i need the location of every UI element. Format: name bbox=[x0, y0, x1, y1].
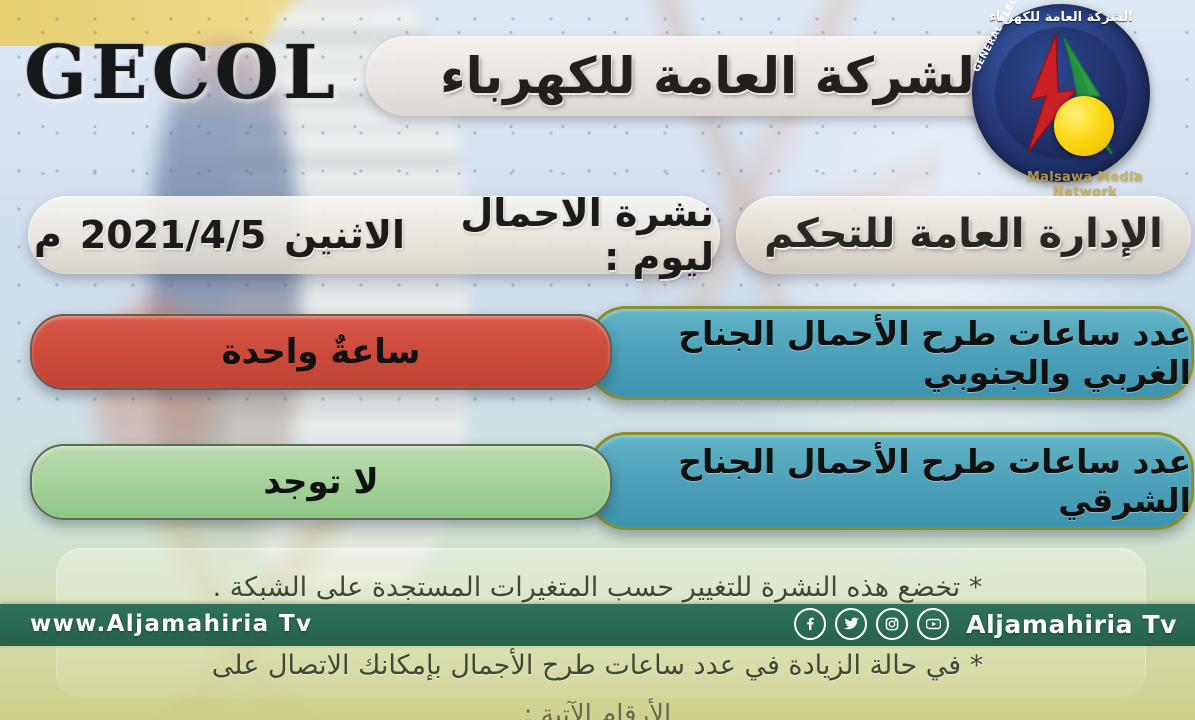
note-line-3: الأرقام الآتية : bbox=[0, 700, 1195, 720]
header-title: الشركة العامة للكهرباء bbox=[366, 34, 1066, 118]
note-line-1: * تخضع هذه النشرة للتغيير حسب المتغيرات … bbox=[0, 572, 1195, 603]
facebook-icon[interactable] bbox=[794, 608, 826, 640]
gecol-wordmark: GECOL bbox=[24, 30, 339, 116]
bulletin-label: نشرة الاحمال ليوم : bbox=[423, 191, 714, 279]
bulletin-weekday: الاثنين bbox=[284, 213, 405, 257]
youtube-icon[interactable] bbox=[917, 608, 949, 640]
row-2-label: عدد ساعات طرح الأحمال الجناح الشرقي bbox=[588, 432, 1194, 530]
bulletin-era-suffix: م bbox=[34, 213, 62, 257]
row-1-value: ساعةٌ واحدة bbox=[30, 314, 612, 390]
broadcast-graphic: GECOL الشركة العامة للكهرباء الشركة العا… bbox=[0, 0, 1195, 720]
logo-yellow-sphere bbox=[1054, 96, 1114, 156]
footer-social-group: Aljamahiria Tv bbox=[794, 608, 1177, 640]
footer-website: www.Aljamahiria Tv bbox=[30, 611, 312, 637]
department-title: الإدارة العامة للتحكم bbox=[736, 194, 1191, 274]
note-line-2: * في حالة الزيادة في عدد ساعات طرح الأجم… bbox=[0, 650, 1195, 681]
footer-channel-name: Aljamahiria Tv bbox=[966, 610, 1177, 639]
gecol-logo: الشركة العامة للكهرباء GENERAL ELECTRICI… bbox=[972, 4, 1150, 182]
row-1-label: عدد ساعات طرح الأحمال الجناح الغربي والج… bbox=[588, 306, 1194, 400]
logo-lightning-icon bbox=[972, 4, 1150, 182]
bulletin-date: 2021/4/5 bbox=[80, 213, 266, 257]
twitter-icon[interactable] bbox=[835, 608, 867, 640]
bulletin-date-row: نشرة الاحمال ليوم : الاثنين 2021/4/5 م bbox=[34, 196, 714, 274]
instagram-icon[interactable] bbox=[876, 608, 908, 640]
row-2-value: لا توجد bbox=[30, 444, 612, 520]
